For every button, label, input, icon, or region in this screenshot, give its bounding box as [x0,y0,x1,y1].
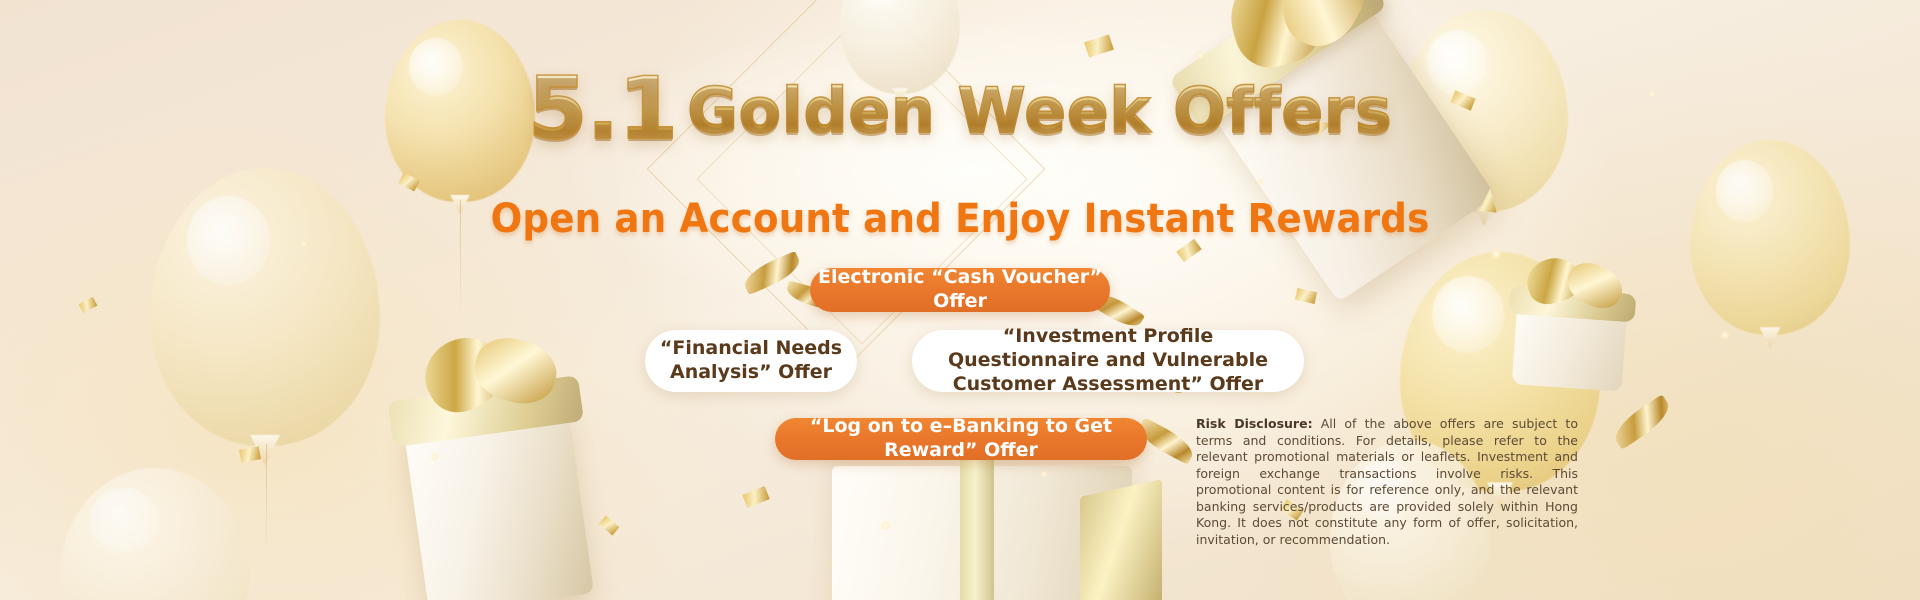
risk-disclosure-heading: Risk Disclosure: [1196,416,1313,431]
banner-content: 5.1Golden Week Offers Open an Account an… [0,0,1920,600]
headline-words: Golden Week Offers [687,74,1392,147]
offer-pill-financial-needs[interactable]: “Financial Needs Analysis” Offer [645,330,857,392]
risk-disclosure: Risk Disclosure: All of the above offers… [1196,416,1578,548]
subheadline: Open an Account and Enjoy Instant Reward… [67,196,1853,242]
offer-pill-investment-profile[interactable]: “Investment Profile Questionnaire and Vu… [912,330,1304,392]
risk-disclosure-body: All of the above offers are subject to t… [1196,416,1578,547]
headline-number: 5.1 [528,59,687,159]
offer-pill-ebanking-reward[interactable]: “Log on to e–Banking to Get Reward” Offe… [775,418,1147,460]
promo-banner: 5.1Golden Week Offers Open an Account an… [0,0,1920,600]
offer-pill-cash-voucher[interactable]: Electronic “Cash Voucher” Offer [810,268,1110,312]
page-title: 5.1Golden Week Offers [0,66,1920,152]
